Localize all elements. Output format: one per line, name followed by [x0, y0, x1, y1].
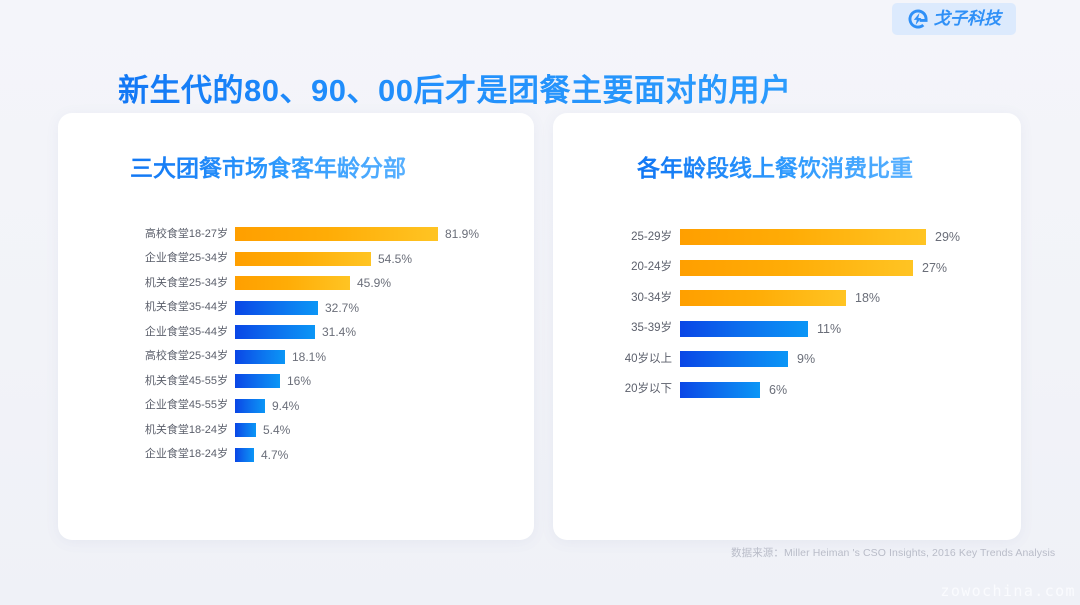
- bar-category-label: 30-34岁: [600, 293, 680, 305]
- bar-category-label: 企业食堂18-24岁: [128, 449, 235, 460]
- bar-category-label: 20岁以下: [600, 384, 680, 396]
- bar: [680, 260, 913, 276]
- bar-value-label: 6%: [760, 384, 787, 397]
- bar-track: 6%: [680, 382, 1000, 398]
- bar-value-label: 31.4%: [315, 326, 356, 338]
- bar-value-label: 27%: [913, 262, 947, 275]
- bar-row: 40岁以上9%: [600, 344, 1000, 375]
- bar-value-label: 18%: [846, 292, 880, 305]
- bar-value-label: 29%: [926, 231, 960, 244]
- bar-row: 20-24岁27%: [600, 253, 1000, 284]
- bar-track: 18%: [680, 290, 1000, 306]
- page-title: 新生代的80、90、00后才是团餐主要面对的用户: [118, 71, 791, 111]
- bar-value-label: 45.9%: [350, 277, 391, 289]
- bar-value-label: 5.4%: [256, 424, 290, 436]
- bar-category-label: 机关食堂45-55岁: [128, 376, 235, 387]
- bar-row: 机关食堂18-24岁5.4%: [128, 418, 518, 443]
- bar-track: 27%: [680, 260, 1000, 276]
- bar: [235, 374, 280, 388]
- bar-track: 45.9%: [235, 276, 518, 290]
- bar: [235, 350, 285, 364]
- bar-track: 54.5%: [235, 252, 518, 266]
- bar-value-label: 18.1%: [285, 351, 326, 363]
- bar-row: 30-34岁18%: [600, 283, 1000, 314]
- bar-category-label: 高校食堂18-27岁: [128, 229, 235, 240]
- bar-category-label: 企业食堂25-34岁: [128, 253, 235, 264]
- bar-category-label: 40岁以上: [600, 354, 680, 366]
- bar: [235, 448, 254, 462]
- bar-track: 31.4%: [235, 325, 518, 339]
- bar-value-label: 9%: [788, 353, 815, 366]
- bar-track: 18.1%: [235, 350, 518, 364]
- bar-track: 29%: [680, 229, 1000, 245]
- bar-row: 机关食堂45-55岁16%: [128, 369, 518, 394]
- bar: [680, 351, 788, 367]
- bar: [680, 229, 926, 245]
- brand-logo-text: 戈子科技: [933, 11, 1001, 28]
- bar-track: 81.9%: [235, 227, 518, 241]
- bar-row: 机关食堂35-44岁32.7%: [128, 296, 518, 321]
- bar-row: 25-29岁29%: [600, 222, 1000, 253]
- bar: [235, 399, 265, 413]
- bar-row: 企业食堂18-24岁4.7%: [128, 443, 518, 468]
- bar-value-label: 9.4%: [265, 400, 299, 412]
- bar-value-label: 11%: [808, 323, 841, 336]
- bar-track: 11%: [680, 321, 1000, 337]
- bar-category-label: 高校食堂25-34岁: [128, 351, 235, 362]
- bar: [235, 325, 315, 339]
- slide-canvas: 戈子科技 新生代的80、90、00后才是团餐主要面对的用户 三大团餐市场食客年龄…: [0, 0, 1080, 605]
- bar-value-label: 32.7%: [318, 302, 359, 314]
- brand-logo-badge: 戈子科技: [892, 3, 1016, 35]
- bar-track: 16%: [235, 374, 518, 388]
- bar-category-label: 企业食堂45-55岁: [128, 400, 235, 411]
- chart-title-right: 各年龄段线上餐饮消费比重: [637, 152, 913, 184]
- bar-category-label: 企业食堂35-44岁: [128, 327, 235, 338]
- bar: [680, 321, 808, 337]
- bar: [235, 252, 371, 266]
- bar: [680, 382, 760, 398]
- bar-row: 企业食堂25-34岁54.5%: [128, 247, 518, 272]
- bar-track: 9.4%: [235, 399, 518, 413]
- bar-value-label: 4.7%: [254, 449, 288, 461]
- bar-row: 机关食堂25-34岁45.9%: [128, 271, 518, 296]
- bar-row: 企业食堂45-55岁9.4%: [128, 394, 518, 419]
- bar-category-label: 25-29岁: [600, 232, 680, 244]
- bar-chart-online-spend-share: 25-29岁29%20-24岁27%30-34岁18%35-39岁11%40岁以…: [600, 222, 1000, 405]
- bar: [680, 290, 846, 306]
- bar-row: 企业食堂35-44岁31.4%: [128, 320, 518, 345]
- bar: [235, 301, 318, 315]
- bar-category-label: 机关食堂18-24岁: [128, 425, 235, 436]
- bar: [235, 227, 438, 241]
- bar-track: 4.7%: [235, 448, 518, 462]
- bar: [235, 423, 256, 437]
- bar-track: 9%: [680, 351, 1000, 367]
- bar-row: 35-39岁11%: [600, 314, 1000, 345]
- bar-category-label: 机关食堂35-44岁: [128, 302, 235, 313]
- bar-track: 5.4%: [235, 423, 518, 437]
- bar-value-label: 16%: [280, 375, 311, 387]
- source-note: 数据来源：Miller Heiman 's CSO Insights, 2016…: [731, 547, 1055, 560]
- chart-title-left: 三大团餐市场食客年龄分部: [130, 152, 406, 184]
- bar-row: 高校食堂25-34岁18.1%: [128, 345, 518, 370]
- bar-value-label: 81.9%: [438, 228, 479, 240]
- bar-row: 20岁以下6%: [600, 375, 1000, 406]
- bar-track: 32.7%: [235, 301, 518, 315]
- bar-value-label: 54.5%: [371, 253, 412, 265]
- g-lightning-logo-icon: [907, 8, 929, 30]
- bar-row: 高校食堂18-27岁81.9%: [128, 222, 518, 247]
- bar-category-label: 机关食堂25-34岁: [128, 278, 235, 289]
- bar-category-label: 35-39岁: [600, 323, 680, 335]
- bar-chart-age-distribution: 高校食堂18-27岁81.9%企业食堂25-34岁54.5%机关食堂25-34岁…: [128, 222, 518, 467]
- bar-category-label: 20-24岁: [600, 262, 680, 274]
- watermark: zowochina.com: [940, 584, 1076, 599]
- bar: [235, 276, 350, 290]
